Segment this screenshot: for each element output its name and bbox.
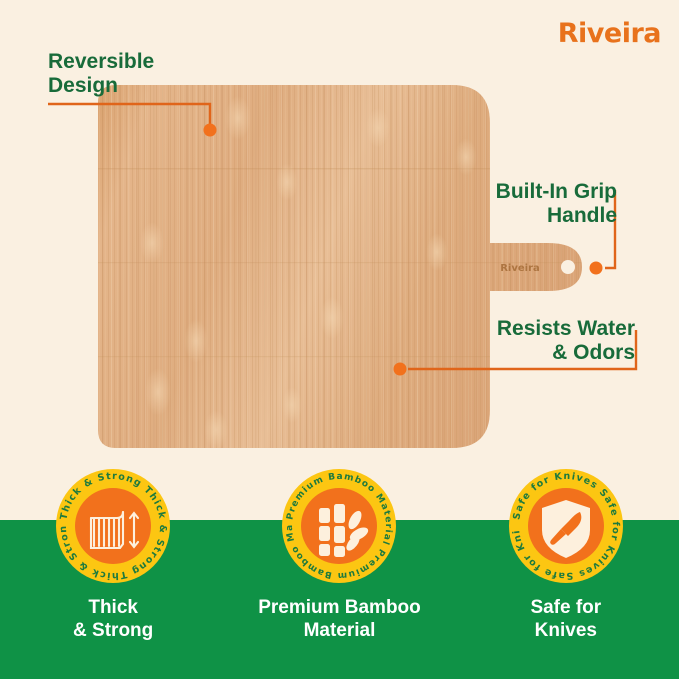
badge-safe-for-knives: Safe for Knives Safe for Knives Safe for…	[506, 466, 626, 586]
handle-hole	[561, 260, 575, 274]
callout-reversible-design: Reversible Design	[48, 50, 154, 98]
feature-badge-labels: Thick & Strong Premium Bamboo Material S…	[0, 596, 679, 642]
badge-label-thick-strong: Thick & Strong	[13, 596, 213, 642]
handle-engraving: Riveira	[500, 263, 540, 274]
badge-label-safe-for-knives: Safe for Knives	[466, 596, 666, 642]
callout-resists-water-odors: Resists Water & Odors	[497, 317, 635, 365]
badge-thick-strong: Thick & Strong Thick & Strong Thick & St…	[53, 466, 173, 586]
feature-badges: Thick & Strong Thick & Strong Thick & St…	[0, 466, 679, 586]
badge-label-premium-bamboo: Premium Bamboo Material	[239, 596, 439, 642]
callout-built-in-grip-handle: Built-In Grip Handle	[496, 180, 617, 228]
product-feature-infographic: Riveira	[0, 0, 679, 679]
badge-premium-bamboo: Premium Bamboo Material Premium Bamboo M…	[279, 466, 399, 586]
